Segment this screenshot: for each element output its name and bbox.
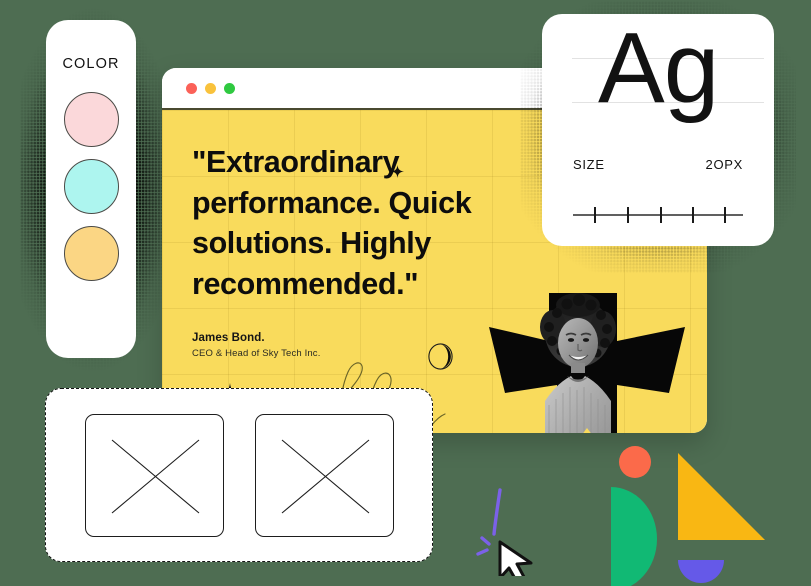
specimen-area: Ag [542,14,774,154]
geometric-shapes-group [592,443,782,586]
x-cross-icon [256,415,394,537]
image-placeholder-2[interactable] [255,414,394,537]
half-circle-purple [678,560,724,583]
specimen-glyph: Ag [598,18,718,118]
circle-orange [619,446,651,478]
close-window-dot[interactable] [186,83,197,94]
testimonial-attribution: James Bond. CEO & Head of Sky Tech Inc. [192,332,321,359]
author-role: CEO & Head of Sky Tech Inc. [192,348,321,359]
image-placeholder-1[interactable] [85,414,224,537]
color-panel-title: COLOR [62,56,119,72]
swatch-cyan[interactable] [64,159,119,214]
swatch-pink[interactable] [64,92,119,147]
color-panel-surface: COLOR [46,20,136,358]
triangle-yellow [678,453,765,540]
maximize-window-dot[interactable] [224,83,235,94]
cursor-arrow-icon [500,542,531,576]
size-row: SIZE 2OPX [573,157,743,172]
size-value: 2OPX [706,157,743,172]
color-panel: COLOR [46,20,136,358]
typography-card: Ag SIZE 2OPX [542,14,774,246]
typography-card-surface: Ag SIZE 2OPX [542,14,774,246]
portrait-composition [487,293,687,433]
portrait-photo [539,293,617,433]
half-circle-green [611,487,657,586]
swatch-yellow[interactable] [64,226,119,281]
minimize-window-dot[interactable] [205,83,216,94]
size-slider-ruler[interactable] [573,204,743,226]
illustration-canvas: COLOR "Extraordinary performance. Quick … [0,0,811,586]
author-name: James Bond. [192,332,321,344]
mouse-cursor-graphic [474,476,550,581]
color-swatch-list [64,92,119,281]
wireframe-card [45,388,433,562]
size-label: SIZE [573,157,605,172]
motion-swoosh-icon [478,490,500,554]
x-cross-icon [86,415,224,537]
